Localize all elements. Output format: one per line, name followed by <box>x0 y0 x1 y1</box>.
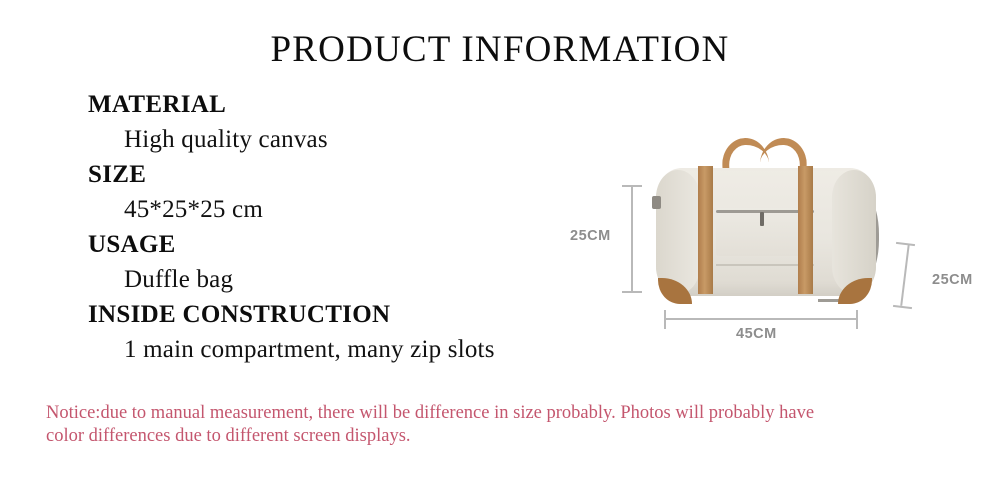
dimension-width-line <box>664 318 858 320</box>
dimension-width-label: 45CM <box>736 326 777 342</box>
product-figure: 25CM 45CM 25CM <box>560 120 1000 360</box>
spec-term-material: MATERIAL <box>88 88 608 121</box>
dimension-height-cap-bottom <box>622 291 642 293</box>
dimension-height-cap-top <box>622 185 642 187</box>
dimension-height-line <box>631 185 633 293</box>
spec-desc-size: 45*25*25 cm <box>88 191 608 228</box>
notice-line-1: Notice:due to manual measurement, there … <box>46 402 966 425</box>
dimension-depth-cap-bottom <box>893 305 912 309</box>
bag-leather-strap-right <box>798 166 813 294</box>
bag-zipper-pull <box>760 212 764 226</box>
spec-size: SIZE 45*25*25 cm <box>88 158 608 228</box>
dimension-width-cap-right <box>856 310 858 329</box>
bag-strap-clip <box>652 196 661 209</box>
dimension-height-label: 25CM <box>570 228 611 244</box>
product-information-page: PRODUCT INFORMATION MATERIAL High qualit… <box>0 0 1000 479</box>
bag-end-panel-left <box>656 170 700 294</box>
dimension-depth-line <box>900 244 910 306</box>
notice-text: Notice:due to manual measurement, there … <box>46 402 966 448</box>
spec-desc-material: High quality canvas <box>88 121 608 158</box>
notice-line-2: color differences due to different scree… <box>46 425 966 448</box>
dimension-depth-label: 25CM <box>932 272 973 288</box>
spec-material: MATERIAL High quality canvas <box>88 88 608 158</box>
bag-end-panel-right <box>832 170 876 294</box>
dimension-depth-group: 25CM <box>890 242 930 312</box>
spec-usage: USAGE Duffle bag <box>88 228 608 298</box>
spec-inside-construction: INSIDE CONSTRUCTION 1 main compartment, … <box>88 298 608 368</box>
spec-term-usage: USAGE <box>88 228 608 261</box>
spec-term-inside-construction: INSIDE CONSTRUCTION <box>88 298 608 331</box>
spec-list: MATERIAL High quality canvas SIZE 45*25*… <box>88 88 608 368</box>
spec-desc-inside-construction: 1 main compartment, many zip slots <box>88 331 608 368</box>
spec-term-size: SIZE <box>88 158 608 191</box>
dimension-width-cap-left <box>664 310 666 329</box>
page-title: PRODUCT INFORMATION <box>0 28 1000 71</box>
bag-leather-strap-left <box>698 166 713 294</box>
duffle-bag-image <box>642 138 890 306</box>
spec-desc-usage: Duffle bag <box>88 261 608 298</box>
dimension-depth-cap-top <box>896 242 915 246</box>
